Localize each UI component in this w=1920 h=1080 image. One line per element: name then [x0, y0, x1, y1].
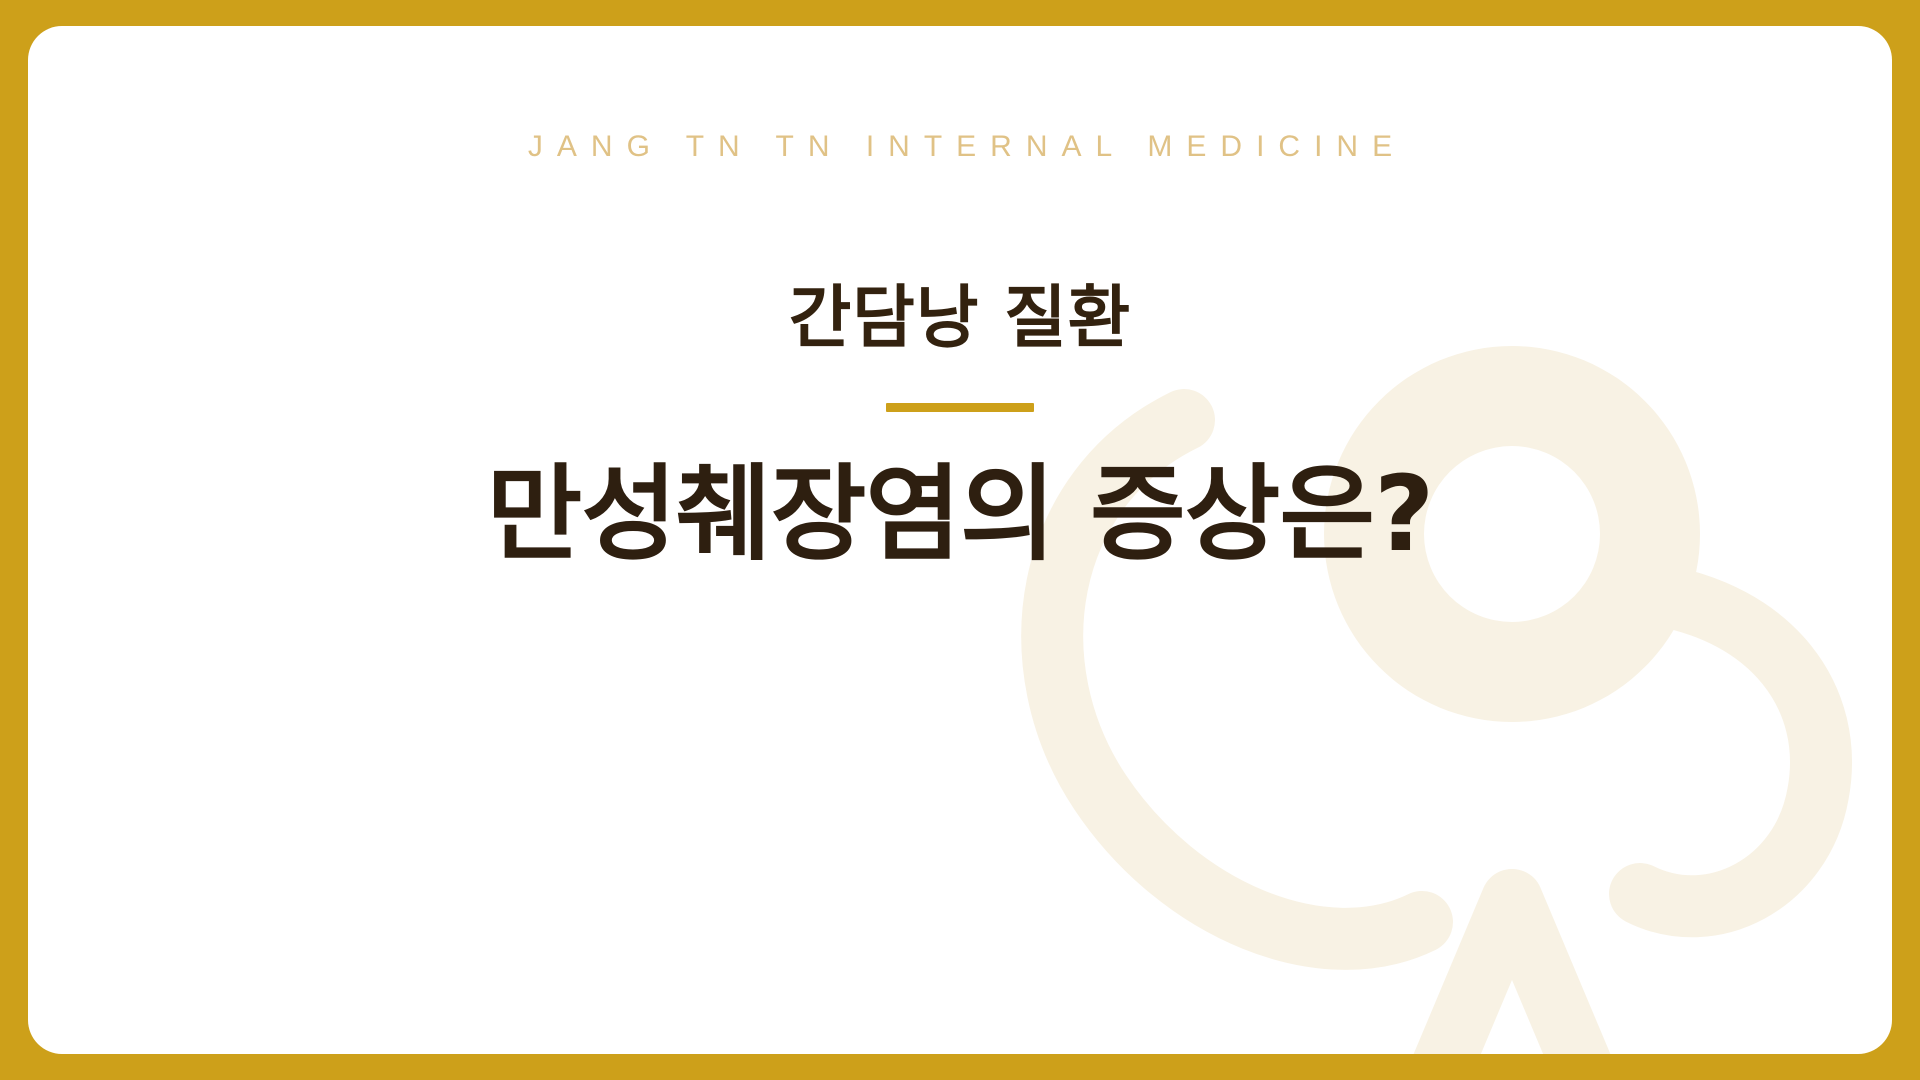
gold-divider	[886, 403, 1034, 412]
slide-card: JANG TN TN INTERNAL MEDICINE 간담낭 질환 만성췌장…	[28, 26, 1892, 1054]
slide-root: JANG TN TN INTERNAL MEDICINE 간담낭 질환 만성췌장…	[0, 0, 1920, 1080]
clinic-name-eyebrow: JANG TN TN INTERNAL MEDICINE	[514, 130, 1406, 164]
slide-content: JANG TN TN INTERNAL MEDICINE 간담낭 질환 만성췌장…	[28, 26, 1892, 1054]
slide-headline: 만성췌장염의 증상은?	[487, 456, 1434, 572]
slide-subtitle: 간담낭 질환	[789, 282, 1131, 357]
